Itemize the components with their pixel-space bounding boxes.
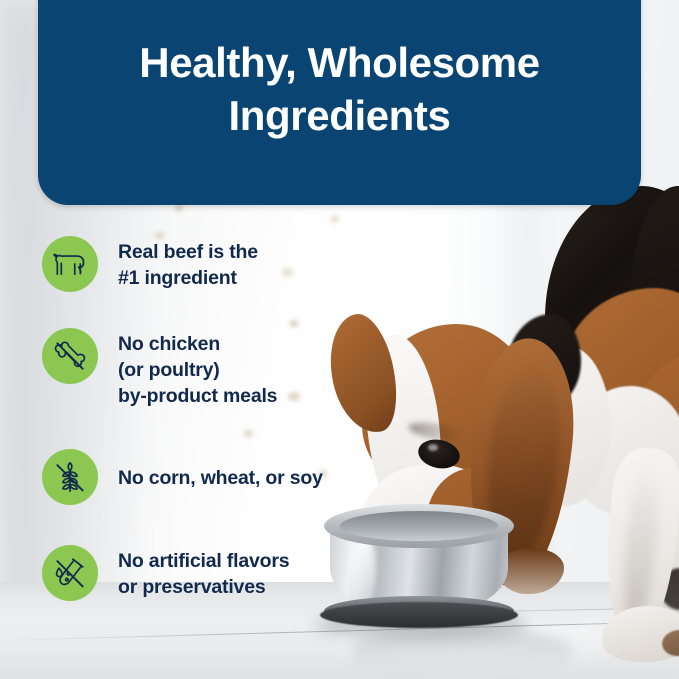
- kibble-speck: [175, 205, 183, 211]
- header-banner: Healthy, Wholesome Ingredients: [38, 0, 641, 205]
- feature-line: No chicken: [118, 331, 277, 357]
- feature-line: (or poultry): [118, 357, 277, 383]
- bone-no-icon: [42, 328, 98, 384]
- feature-item-no-chicken: No chicken (or poultry) by-product meals: [0, 328, 400, 409]
- dog-eye-highlight: [428, 444, 438, 451]
- feature-text: No corn, wheat, or soy: [118, 449, 323, 491]
- feature-text: No artificial flavors or preservatives: [118, 545, 289, 600]
- cow-icon: [42, 236, 98, 292]
- feature-line: No corn, wheat, or soy: [118, 465, 323, 491]
- product-feature-graphic: Healthy, Wholesome Ingredients Real beef…: [0, 0, 679, 679]
- feature-line: Real beef is the: [118, 239, 258, 265]
- feature-text: Real beef is the #1 ingredient: [118, 236, 258, 291]
- feature-line: by-product meals: [118, 383, 277, 409]
- feature-line: #1 ingredient: [118, 265, 258, 291]
- page-title: Healthy, Wholesome Ingredients: [105, 37, 575, 205]
- test-tube-no-icon: [42, 545, 98, 601]
- feature-line: or preservatives: [118, 574, 289, 600]
- feature-item-real-beef: Real beef is the #1 ingredient: [0, 236, 400, 292]
- feature-item-no-corn-wheat-soy: No corn, wheat, or soy: [0, 449, 400, 505]
- feature-list: Real beef is the #1 ingredient No chicke…: [0, 236, 400, 611]
- feature-item-no-artificial-flavors: No artificial flavors or preservatives: [0, 545, 400, 601]
- feature-text: No chicken (or poultry) by-product meals: [118, 328, 277, 409]
- wheat-no-icon: [42, 449, 98, 505]
- feature-line: No artificial flavors: [118, 548, 289, 574]
